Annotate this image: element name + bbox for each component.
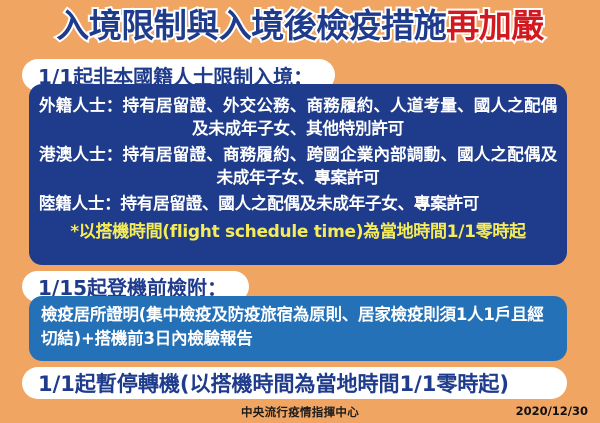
footer-agency: 中央流行疫情指揮中心 [0, 404, 600, 420]
section1-row-foreign: 外籍人士：持有居留證、外交公務、商務履約、人道考量、國人之配偶及未成年子女、其他… [39, 94, 557, 140]
footer-date: 2020/12/30 [516, 404, 588, 418]
poster-title: 入境限制與入境後檢疫措施再加嚴 [0, 4, 600, 48]
section3-header-label: 1/1起暫停轉機(以搭機時間為當地時間1/1零時起) [38, 368, 509, 398]
poster-title-highlight: 再加嚴 [446, 6, 544, 45]
poster-title-main: 入境限制與入境後檢疫措施 [56, 6, 446, 45]
section2-content-box: 檢疫居所證明(集中檢疫及防疫旅宿為原則、居家檢疫則須1人1戶且經切結)+搭機前3… [29, 296, 567, 361]
section1-row-hkmacau: 港澳人士：持有居留證、商務履約、跨國企業內部調動、國人之配偶及未成年子女、專案許… [39, 143, 557, 189]
section3-header-pill: 1/1起暫停轉機(以搭機時間為當地時間1/1零時起) [22, 367, 567, 399]
section2-text: 檢疫居所證明(集中檢疫及防疫旅宿為原則、居家檢疫則須1人1戶且經切結)+搭機前3… [41, 303, 555, 351]
section1-row-mainland: 陸籍人士：持有居留證、國人之配偶及未成年子女、專案許可 [39, 192, 557, 215]
poster-root: 入境限制與入境後檢疫措施再加嚴 1/1起非本國籍人士限制入境： 外籍人士：持有居… [0, 0, 600, 423]
section1-content-box: 外籍人士：持有居留證、外交公務、商務履約、人道考量、國人之配偶及未成年子女、其他… [29, 84, 567, 265]
section1-note: *以搭機時間(flight schedule time)為當地時間1/1零時起 [39, 220, 557, 244]
poster-footer: 中央流行疫情指揮中心 2020/12/30 [0, 402, 600, 423]
